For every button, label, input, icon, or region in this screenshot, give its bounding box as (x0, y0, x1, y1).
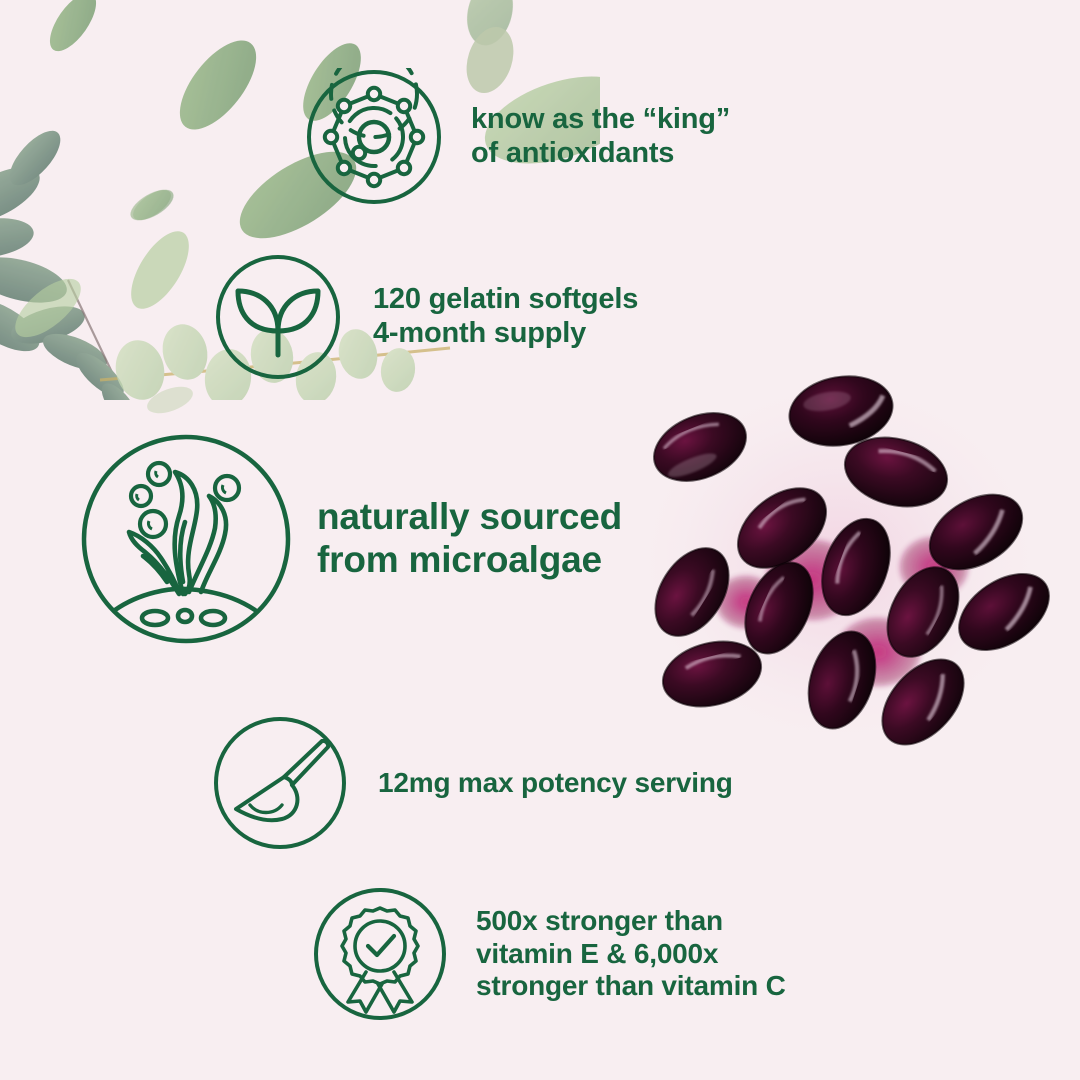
seaweed-algae-icon (79, 432, 293, 646)
infographic-canvas: know as the “king” of antioxidants 120 g… (0, 0, 1080, 1080)
feature-row-antioxidant: know as the “king” of antioxidants (305, 68, 730, 206)
feature-label-antioxidant: know as the “king” of antioxidants (471, 103, 730, 170)
feature-label-microalgae: naturally sourced from microalgae (317, 496, 622, 582)
feature-label-potency: 12mg max potency serving (378, 767, 733, 799)
antioxidant-molecule-icon (305, 68, 443, 206)
sprout-leaf-icon (214, 253, 342, 381)
astaxanthin-softgel-capsules (616, 352, 1062, 772)
feature-row-potency: 12mg max potency serving (210, 713, 733, 853)
feature-row-microalgae: naturally sourced from microalgae (79, 432, 622, 646)
award-ribbon-icon (310, 884, 450, 1024)
spoon-icon (210, 713, 350, 853)
feature-row-softgels: 120 gelatin softgels 4-month supply (214, 253, 638, 381)
feature-label-softgels: 120 gelatin softgels 4-month supply (373, 283, 638, 350)
feature-label-strength: 500x stronger than vitamin E & 6,000x st… (476, 905, 786, 1002)
feature-row-strength: 500x stronger than vitamin E & 6,000x st… (310, 884, 786, 1024)
